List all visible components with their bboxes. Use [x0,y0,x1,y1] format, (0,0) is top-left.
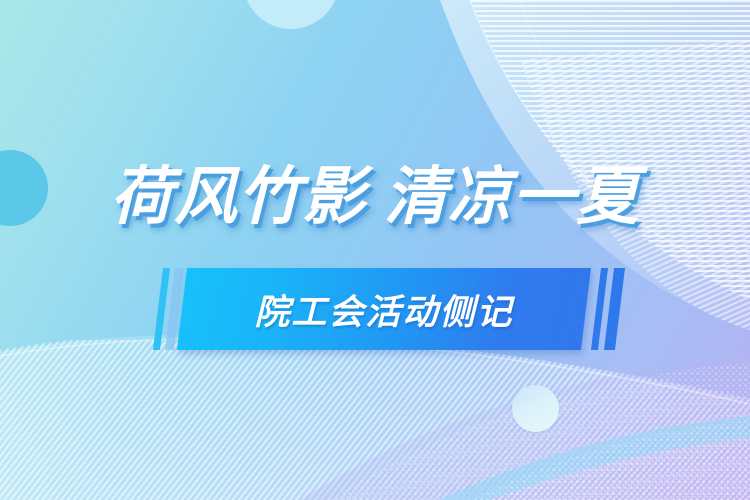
headline-part-2: 清凉一夏 [384,162,640,232]
poster-banner: 荷风竹影清凉一夏 院工会活动侧记 [0,0,750,500]
subtitle-text: 院工会活动侧记 [182,268,586,350]
headline-part-1: 荷风竹影 [110,162,366,232]
slash-bar-right-2 [604,268,625,350]
background-artwork [0,0,750,500]
poster-headline: 荷风竹影清凉一夏 [0,166,750,229]
circle-decoration-bottom [512,385,559,432]
subtitle-ribbon-group: 院工会活动侧记 [0,262,750,358]
